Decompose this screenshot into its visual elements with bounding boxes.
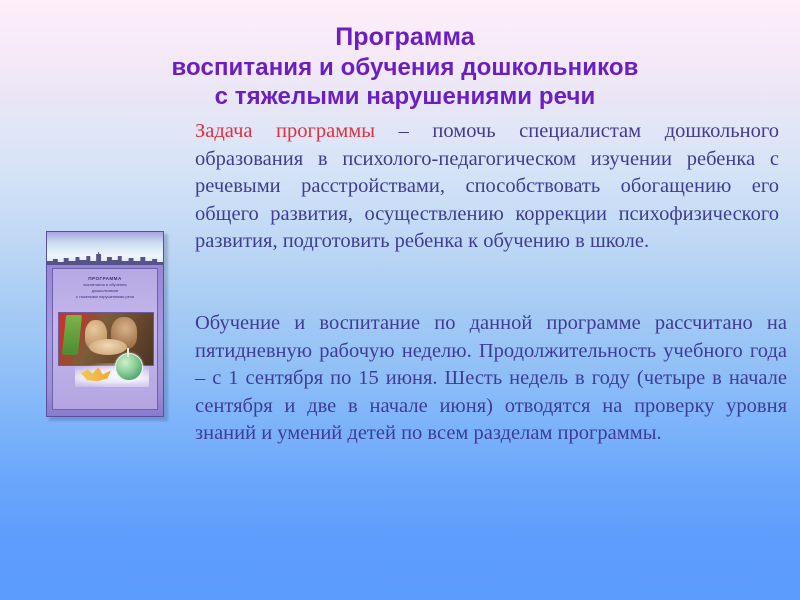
illustration-green-strip bbox=[62, 315, 82, 355]
globe-pin bbox=[127, 348, 129, 357]
book-cover-image: ПРОГРАММА воспитания и обучения дошкольн… bbox=[46, 231, 168, 421]
book-cover-title: ПРОГРАММА воспитания и обучения дошкольн… bbox=[57, 275, 153, 301]
paragraph-schedule-text: Обучение и воспитание по данной программ… bbox=[195, 312, 787, 444]
book-cover-sky-band bbox=[47, 232, 163, 265]
book-cover-panel: ПРОГРАММА воспитания и обучения дошкольн… bbox=[52, 268, 158, 410]
paragraph-schedule: Обучение и воспитание по данной программ… bbox=[195, 310, 787, 448]
slide-title-line-2: воспитания и обучения дошкольников bbox=[150, 53, 660, 82]
paragraph-program-objective: Задача программы – помочь специалистам д… bbox=[195, 118, 779, 256]
globe-icon bbox=[115, 353, 143, 381]
city-skyline-icon bbox=[47, 252, 163, 265]
slide-title-line-3: с тяжелыми нарушениями речи bbox=[150, 82, 660, 111]
book-cover: ПРОГРАММА воспитания и обучения дошкольн… bbox=[46, 231, 164, 417]
book-title-line-4: с тяжелыми нарушениями речи bbox=[57, 294, 153, 300]
slide-title: Программа воспитания и обучения дошкольн… bbox=[150, 22, 660, 111]
presentation-slide: Программа воспитания и обучения дошкольн… bbox=[0, 0, 800, 600]
illustration-hands bbox=[89, 339, 127, 355]
book-title-line-1: ПРОГРАММА bbox=[57, 275, 153, 282]
paragraph-lead-accent: Задача программы bbox=[195, 120, 375, 142]
slide-title-line-1: Программа bbox=[150, 22, 660, 53]
